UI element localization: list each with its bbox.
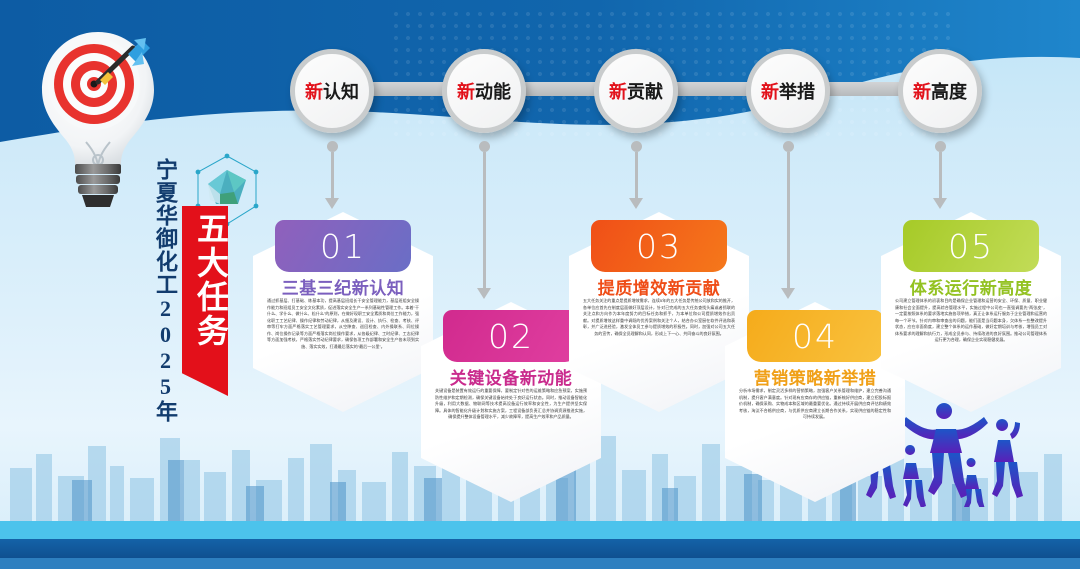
- infographic-poster: 宁夏华御化工2025年 五大任务 新认知 新动能 新贡献 新举措 新高度: [0, 0, 1080, 569]
- task-card-02-header: 02: [443, 310, 579, 362]
- milestone-badge-1-label: 新认知: [305, 78, 359, 104]
- task-card-05[interactable]: 05 体系运行新高度 公司建立管理体系的初衷和目的是确保企业管理和运营的安全、环…: [881, 212, 1061, 412]
- company-vertical-title: 宁夏华御化工2025年: [146, 158, 176, 423]
- milestone-badge-3[interactable]: 新贡献: [594, 49, 678, 133]
- task-card-03-header: 03: [591, 220, 727, 272]
- task-card-04[interactable]: 04 营销策略新举措 分析市场需求，制定灵活多样的营销策略，加强客户关系管理和维…: [725, 302, 905, 502]
- milestone-badge-2-label: 新动能: [457, 78, 511, 104]
- task-card-03-text: 五大任务关注的重点是提质增效需求，连续5年的五大任务是传统公司放和实的推开，各单…: [583, 298, 735, 337]
- bottom-band-mid: [0, 558, 1080, 569]
- task-card-02-text: 关键设备是装置有效运行的重要保障，要制定针对性的运维策略和应急预案，实施预防性维…: [435, 388, 587, 421]
- milestone-badge-3-label: 新贡献: [609, 78, 663, 104]
- task-card-05-number: 05: [948, 227, 994, 266]
- connector-arrow-4: [781, 141, 795, 299]
- task-card-01-title: 三基三纪新认知: [253, 274, 433, 299]
- connector-arrow-1: [325, 141, 339, 209]
- task-card-01[interactable]: 01 三基三纪新认知 通过抓基层、打基础、练基本功，提高基层班组长干安全管理能力…: [253, 212, 433, 412]
- milestone-badge-4-label: 新举措: [761, 78, 815, 104]
- five-tasks-banner: 五大任务: [182, 206, 228, 396]
- milestone-badge-5[interactable]: 新高度: [898, 49, 982, 133]
- milestone-badge-4[interactable]: 新举措: [746, 49, 830, 133]
- connector-arrow-2: [477, 141, 491, 299]
- connector-arrow-5: [933, 141, 947, 209]
- task-card-01-header: 01: [275, 220, 411, 272]
- task-card-05-header: 05: [903, 220, 1039, 272]
- task-card-05-title: 体系运行新高度: [881, 274, 1061, 299]
- task-card-02-number: 02: [488, 317, 534, 356]
- task-card-04-text: 分析市场需求，制定灵活多样的营销策略，加强客户关系管理和维护，建立完善沟通机制，…: [739, 388, 891, 421]
- task-card-01-text: 通过抓基层、打基础、练基本功，提高基层班组长干安全管理能力，基层班组安全操作能力…: [267, 298, 419, 350]
- bottom-band-dark: [0, 539, 1080, 559]
- task-card-04-number: 04: [792, 317, 838, 356]
- milestone-badge-5-label: 新高度: [913, 78, 967, 104]
- milestone-badge-2[interactable]: 新动能: [442, 49, 526, 133]
- task-card-01-number: 01: [320, 227, 366, 266]
- task-card-03-number: 03: [636, 227, 682, 266]
- task-card-04-header: 04: [747, 310, 883, 362]
- task-card-03[interactable]: 03 提质增效新贡献 五大任务关注的重点是提质增效需求，连续5年的五大任务是传统…: [569, 212, 749, 412]
- task-card-03-title: 提质增效新贡献: [569, 274, 749, 299]
- bottom-band-light: [0, 521, 1080, 541]
- task-card-04-title: 营销策略新举措: [725, 364, 905, 389]
- five-tasks-banner-label: 五大任务: [182, 206, 228, 348]
- connector-arrow-3: [629, 141, 643, 209]
- task-card-05-text: 公司建立管理体系的初衷和目的是确保企业管理和运营的安全、环保、质量、职业健康和社…: [895, 298, 1047, 344]
- milestone-badge-1[interactable]: 新认知: [290, 49, 374, 133]
